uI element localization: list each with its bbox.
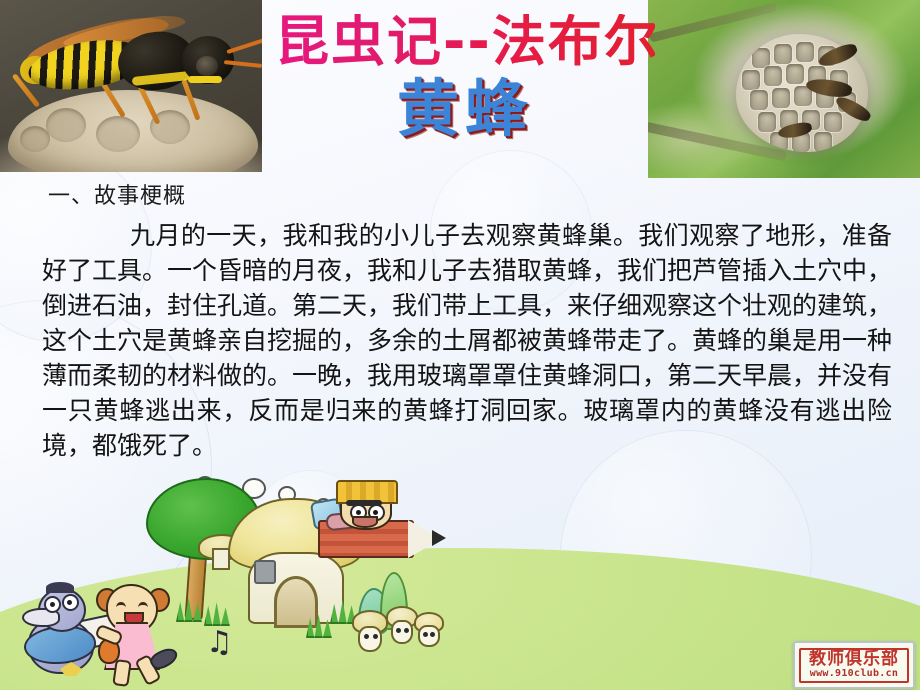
body-paragraph: 九月的一天，我和我的小儿子去观察黄蜂巢。我们观察了地形，准备好了工具。一个昏暗的… [42, 218, 892, 463]
publisher-logo-url: www.910club.cn [810, 669, 899, 679]
nest-cell-shape [20, 126, 50, 152]
wasp-head-marking-shape [188, 76, 222, 83]
twig-shape [649, 2, 777, 42]
mushroom-house-window-shape [254, 560, 276, 584]
mini-mushroom-body-shape [358, 626, 382, 652]
rider-mouth-shape [352, 516, 378, 528]
wasp-nest-comb-photo [648, 0, 920, 178]
section-heading: 一、故事梗概 [48, 178, 186, 210]
wasp-antenna-shape [226, 38, 262, 54]
duck-eye-icon [44, 596, 61, 613]
slide-title-main: 昆虫记--法布尔 [275, 14, 655, 71]
nest-cell-shape [46, 108, 86, 142]
publisher-logo-frame: 教师俱乐部 www.910club.cn [799, 648, 909, 683]
wasp-eye-shape [196, 56, 218, 76]
wasp-on-nest-photo [0, 0, 262, 172]
mini-mushroom-body-shape [391, 620, 413, 644]
slide-title-sub: 黄蜂 [275, 78, 655, 140]
duck-hair-shape [46, 582, 74, 593]
publisher-logo-name: 教师俱乐部 [809, 651, 899, 668]
mini-mushroom-body-shape [418, 625, 440, 647]
publisher-logo: 教师俱乐部 www.910club.cn [793, 641, 915, 689]
mushroom-house-door-shape [274, 576, 318, 628]
slide-canvas: 昆虫记--法布尔 黄蜂 一、故事梗概 九月的一天，我和我的小儿子去观察黄蜂巢。我… [0, 0, 920, 690]
duck-eye-icon [62, 594, 79, 611]
pencil-lead-shape [432, 530, 446, 546]
music-note-icon: ♫ [206, 628, 233, 658]
nest-cell-shape [96, 116, 140, 152]
